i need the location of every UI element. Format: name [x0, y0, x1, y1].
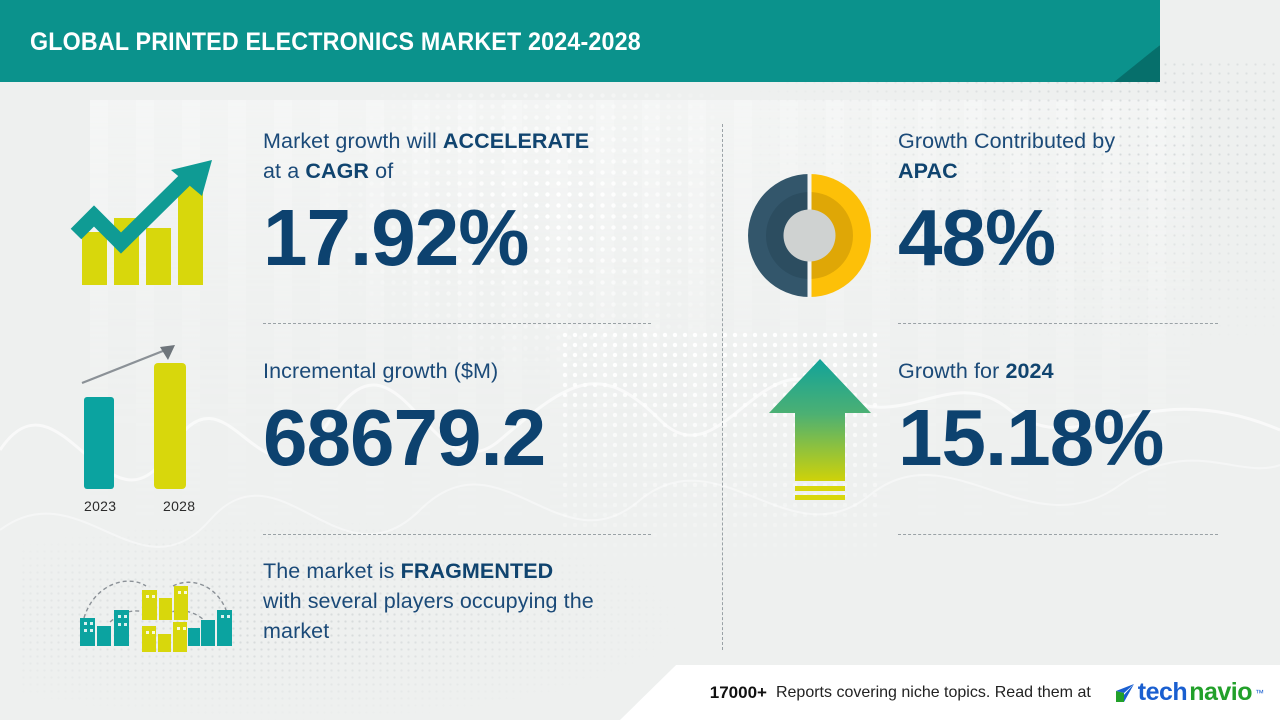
page-title: GLOBAL PRINTED ELECTRONICS MARKET 2024-2…	[30, 28, 641, 57]
frag-line2: with several players occupying the	[263, 589, 594, 613]
divider-left-1	[263, 323, 651, 324]
bar-comparison-icon	[72, 335, 227, 520]
apac-line1: Growth Contributed by	[898, 129, 1115, 153]
cagr-line2-pre: at a	[263, 159, 305, 183]
incremental-growth-block: Incremental growth ($M) 68679.2	[263, 356, 683, 478]
fragmentation-caption: The market is FRAGMENTED with several pl…	[263, 556, 688, 646]
yg-line1-strong: 2024	[1005, 359, 1053, 383]
logo-text-navio: navio	[1189, 678, 1252, 707]
incremental-label: Incremental growth ($M)	[263, 356, 683, 386]
cagr-line2-post: of	[369, 159, 393, 183]
divider-right-1	[898, 323, 1218, 324]
footer: 17000+ Reports covering niche topics. Re…	[0, 665, 1280, 720]
fragmentation-block: The market is FRAGMENTED with several pl…	[263, 556, 688, 646]
technavio-logo[interactable]: technavio™	[1112, 678, 1264, 707]
growth-chart-icon	[70, 140, 230, 295]
apac-contribution-block: Growth Contributed by APAC 48%	[898, 126, 1228, 278]
frag-line1-strong: FRAGMENTED	[401, 559, 554, 583]
column-divider	[722, 124, 723, 650]
city-network-icon	[68, 560, 248, 660]
yearly-growth-value: 15.18%	[898, 398, 1238, 478]
incremental-value: 68679.2	[263, 398, 683, 478]
technavio-mark-icon	[1112, 680, 1136, 706]
bar-label-2023: 2023	[84, 498, 116, 514]
apac-line1-strong: APAC	[898, 159, 958, 183]
cagr-caption: Market growth will ACCELERATE at a CAGR …	[263, 126, 683, 186]
footer-tagline: Reports covering niche topics. Read them…	[776, 684, 1091, 702]
divider-right-2	[898, 534, 1218, 535]
apac-value: 48%	[898, 198, 1228, 278]
cagr-block: Market growth will ACCELERATE at a CAGR …	[263, 126, 683, 278]
frag-line3: market	[263, 619, 329, 643]
yearly-growth-block: Growth for 2024 15.18%	[898, 356, 1238, 478]
divider-left-2	[263, 534, 651, 535]
arrow-up-icon	[765, 355, 875, 515]
cagr-line2-strong: CAGR	[305, 159, 369, 183]
cagr-line1-strong: ACCELERATE	[443, 129, 589, 153]
frag-line1-pre: The market is	[263, 559, 401, 583]
apac-caption: Growth Contributed by APAC	[898, 126, 1228, 186]
trademark-symbol: ™	[1255, 688, 1264, 698]
cagr-line1-pre: Market growth will	[263, 129, 443, 153]
logo-text-tech: tech	[1138, 678, 1187, 707]
bar-label-2028: 2028	[163, 498, 195, 514]
yearly-growth-caption: Growth for 2024	[898, 356, 1238, 386]
report-count: 17000+	[710, 683, 767, 703]
yg-line1-pre: Growth for	[898, 359, 1005, 383]
cagr-value: 17.92%	[263, 198, 683, 278]
donut-chart-icon	[742, 168, 877, 303]
